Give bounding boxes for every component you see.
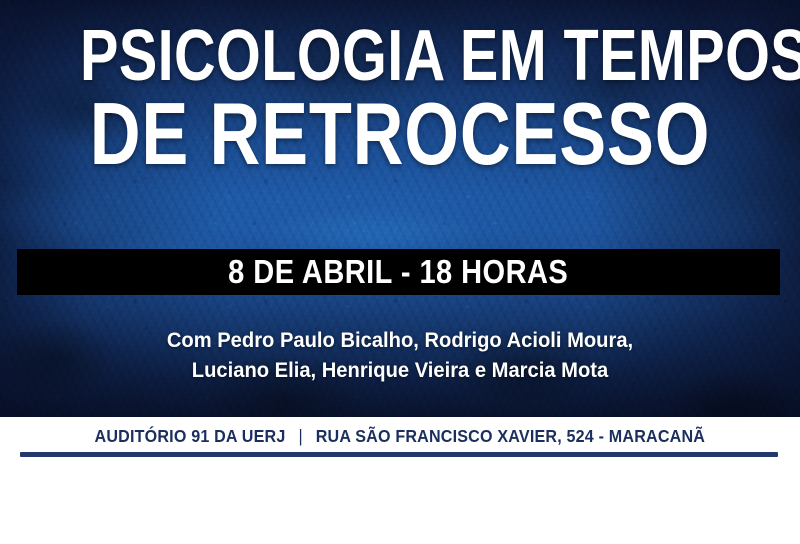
venue-band: AUDITÓRIO 91 DA UERJ | RUA SÃO FRANCISCO… — [0, 417, 800, 455]
venue-line: AUDITÓRIO 91 DA UERJ | RUA SÃO FRANCISCO… — [95, 426, 706, 447]
speakers-line-1: Com Pedro Paulo Bicalho, Rodrigo Acioli … — [16, 326, 784, 356]
speakers-line-2: Luciano Elia, Henrique Vieira e Marcia M… — [16, 356, 784, 386]
venue-name: AUDITÓRIO 91 DA UERJ — [95, 426, 286, 446]
sponsor-footer: APOIO: CRP·RJ CONSELHO REGIONAL DE PSICO… — [0, 457, 800, 544]
venue-separator: | — [290, 426, 311, 447]
date-banner: 8 DE ABRIL - 18 HORAS — [17, 249, 780, 295]
venue-address: RUA SÃO FRANCISCO XAVIER, 524 - MARACANÃ — [316, 426, 705, 446]
event-poster: PSICOLOGIA EM TEMPOS DE RETROCESSO 8 DE … — [0, 0, 800, 544]
page-title: PSICOLOGIA EM TEMPOS DE RETROCESSO — [0, 26, 800, 172]
headline-line-1: PSICOLOGIA EM TEMPOS — [80, 26, 720, 88]
headline-line-2: DE RETROCESSO — [80, 96, 720, 172]
date-banner-text: 8 DE ABRIL - 18 HORAS — [228, 253, 568, 291]
speakers-list: Com Pedro Paulo Bicalho, Rodrigo Acioli … — [0, 326, 800, 386]
